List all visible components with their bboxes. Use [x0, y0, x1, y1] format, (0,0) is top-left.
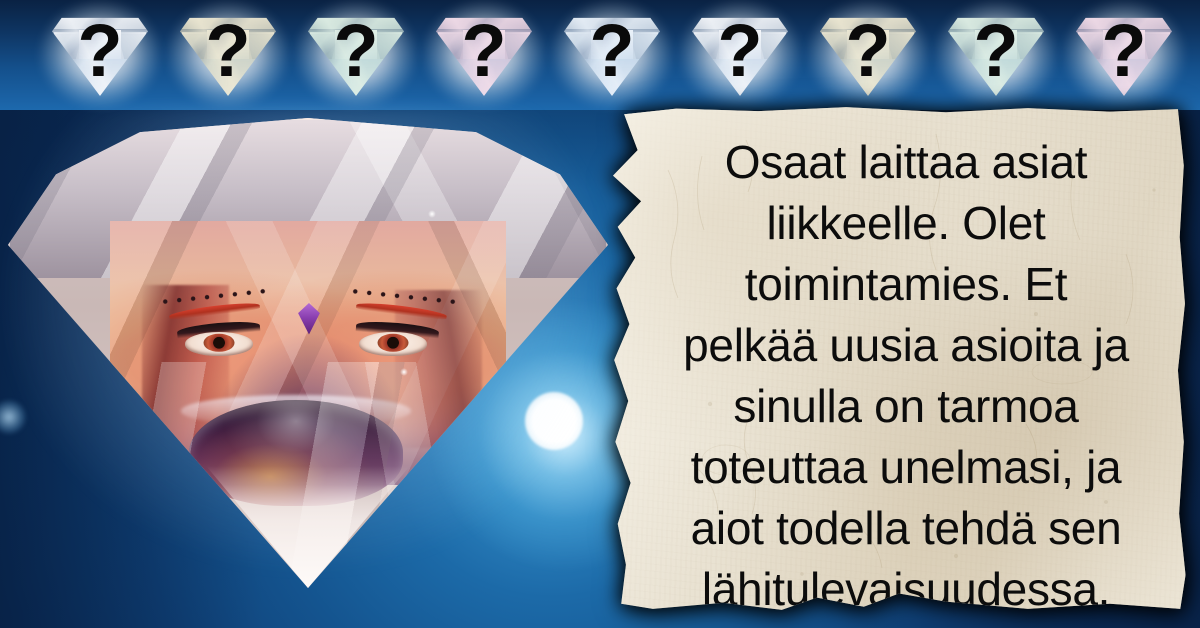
question-mark-diamond-icon: ?: [686, 8, 794, 100]
fortune-text: Osaat laittaa asiat liikkeelle. Olet toi…: [646, 132, 1166, 620]
question-mark-diamond-icon: ?: [302, 8, 410, 100]
poster-canvas: ?????????: [0, 0, 1200, 628]
question-mark-diamond-icon: ?: [558, 8, 666, 100]
question-mark-diamond-icon: ?: [430, 8, 538, 100]
question-mark-diamond-icon: ?: [1070, 8, 1178, 100]
question-mark-glyph: ?: [430, 8, 538, 100]
question-mark-glyph: ?: [558, 8, 666, 100]
question-mark-diamond-strip: ?????????: [0, 0, 1200, 110]
question-mark-glyph: ?: [686, 8, 794, 100]
sparkle-icon: [400, 368, 408, 376]
parchment-surface: Osaat laittaa asiat liikkeelle. Olet toi…: [606, 104, 1192, 616]
question-mark-diamond-icon: ?: [814, 8, 922, 100]
parchment-scroll: Osaat laittaa asiat liikkeelle. Olet toi…: [606, 104, 1192, 616]
question-mark-diamond-icon: ?: [174, 8, 282, 100]
question-mark-glyph: ?: [46, 8, 154, 100]
fortune-teller-diamond: [8, 118, 608, 588]
question-mark-glyph: ?: [174, 8, 282, 100]
question-mark-glyph: ?: [302, 8, 410, 100]
question-mark-diamond-icon: ?: [942, 8, 1050, 100]
sparkle-icon: [428, 210, 436, 218]
question-mark-glyph: ?: [814, 8, 922, 100]
question-mark-glyph: ?: [942, 8, 1050, 100]
question-mark-diamond-icon: ?: [46, 8, 154, 100]
question-mark-glyph: ?: [1070, 8, 1178, 100]
